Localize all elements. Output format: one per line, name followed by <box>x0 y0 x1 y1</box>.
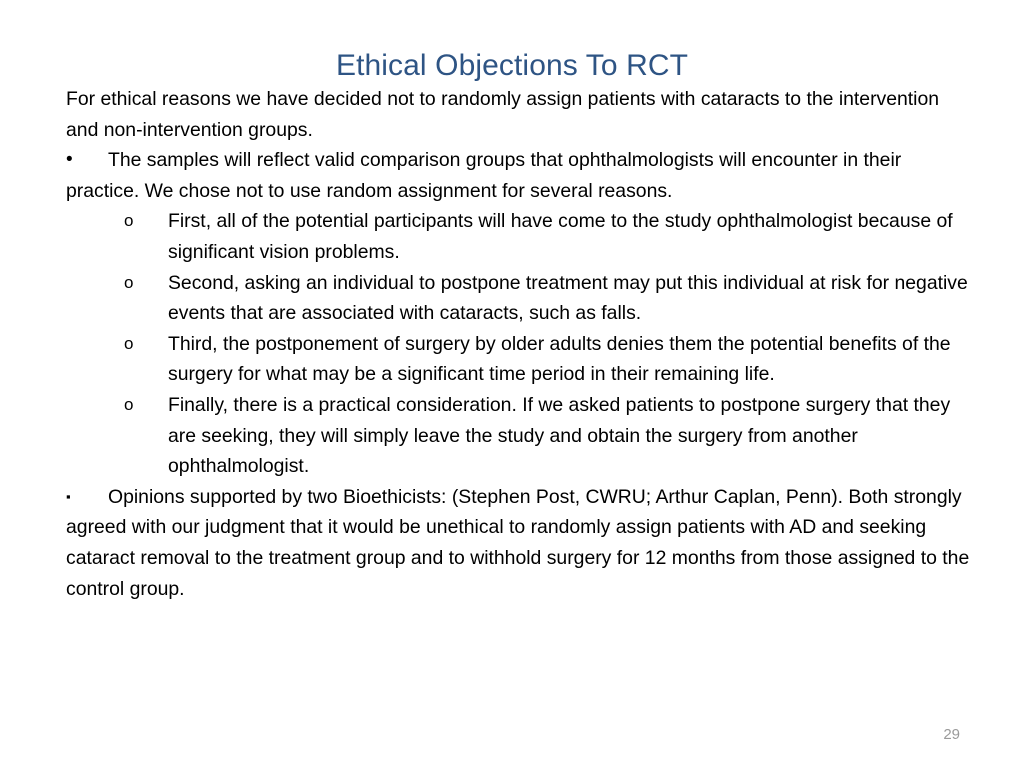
bullet-square-icon: ▪ <box>66 482 108 513</box>
bullet-paragraph: oSecond, asking an individual to postpon… <box>66 268 970 329</box>
bullet-text: Third, the postponement of surgery by ol… <box>168 329 970 390</box>
bullet-text: First, all of the potential participants… <box>168 206 970 267</box>
bullet-dot-icon: • <box>66 145 108 176</box>
bullet-circle-icon: o <box>124 206 164 237</box>
bullet-circle-icon: o <box>124 268 164 299</box>
bullet-paragraph: oThird, the postponement of surgery by o… <box>66 329 970 390</box>
bullet-paragraph: For ethical reasons we have decided not … <box>66 84 970 145</box>
bullet-text: The samples will reflect valid compariso… <box>66 149 901 202</box>
bullet-circle-icon: o <box>124 390 164 421</box>
bullet-paragraph: ▪Opinions supported by two Bioethicists:… <box>66 482 970 604</box>
slide-body: For ethical reasons we have decided not … <box>66 84 970 604</box>
bullet-paragraph: oFirst, all of the potential participant… <box>66 206 970 267</box>
bullet-paragraph: oFinally, there is a practical considera… <box>66 390 970 482</box>
bullet-text: Second, asking an individual to postpone… <box>168 268 970 329</box>
bullet-text: Opinions supported by two Bioethicists: … <box>66 486 969 600</box>
page-title: Ethical Objections To RCT <box>0 47 1024 85</box>
page-number: 29 <box>943 726 960 744</box>
bullet-circle-icon: o <box>124 329 164 360</box>
slide: Ethical Objections To RCT For ethical re… <box>0 0 1024 768</box>
paragraph-text: For ethical reasons we have decided not … <box>66 88 939 141</box>
bullet-text: Finally, there is a practical considerat… <box>168 390 970 482</box>
bullet-paragraph: •The samples will reflect valid comparis… <box>66 145 970 206</box>
